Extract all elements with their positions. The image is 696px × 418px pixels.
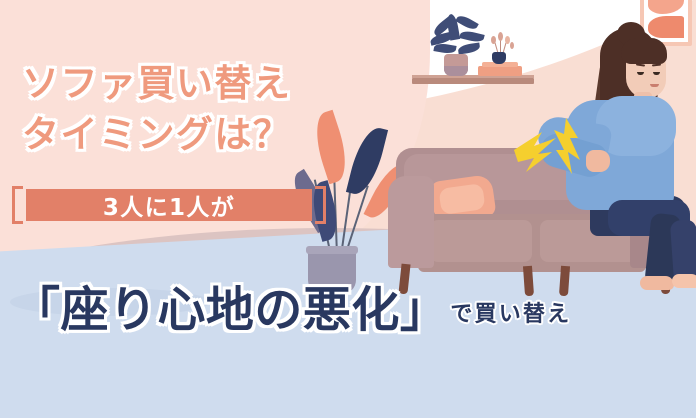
dried-flower-bloom: [498, 32, 503, 41]
pain-lightning-bolt-icon: [548, 116, 586, 182]
subbar-bracket-left: [12, 186, 23, 224]
shelf-board: [412, 78, 534, 84]
infographic-banner: ソファ買い替え タイミングは？ 3人に1人が 「座り心地の悪化」 で買い替え: [0, 0, 696, 418]
woman-hand-on-back: [586, 150, 610, 172]
sofa-seat-cushion-left: [430, 220, 532, 262]
bottom-message-main: 「座り心地の悪化」: [12, 286, 448, 334]
dried-flower-bloom: [505, 36, 510, 44]
shelf-book-stack: [478, 66, 522, 76]
wall-art-shape-bottom: [648, 16, 684, 38]
subbar-container: 3人に1人が: [26, 189, 312, 221]
dried-flower-bloom: [510, 42, 514, 49]
woman-hair-front: [621, 38, 667, 64]
subbar-label: 3人に1人が: [26, 189, 312, 221]
bottom-message-suffix: で買い替え: [450, 296, 571, 334]
shelf-plant-pot-band: [444, 66, 468, 76]
dried-flower-bloom: [491, 36, 496, 44]
subbar-bracket-right: [315, 186, 326, 224]
headline: ソファ買い替え タイミングは？: [22, 58, 342, 160]
plant-pot-rim: [306, 246, 358, 254]
sofa-armrest-left: [388, 176, 434, 268]
shelf-vase: [492, 52, 506, 64]
bottom-message: 「座り心地の悪化」 で買い替え: [12, 286, 696, 334]
